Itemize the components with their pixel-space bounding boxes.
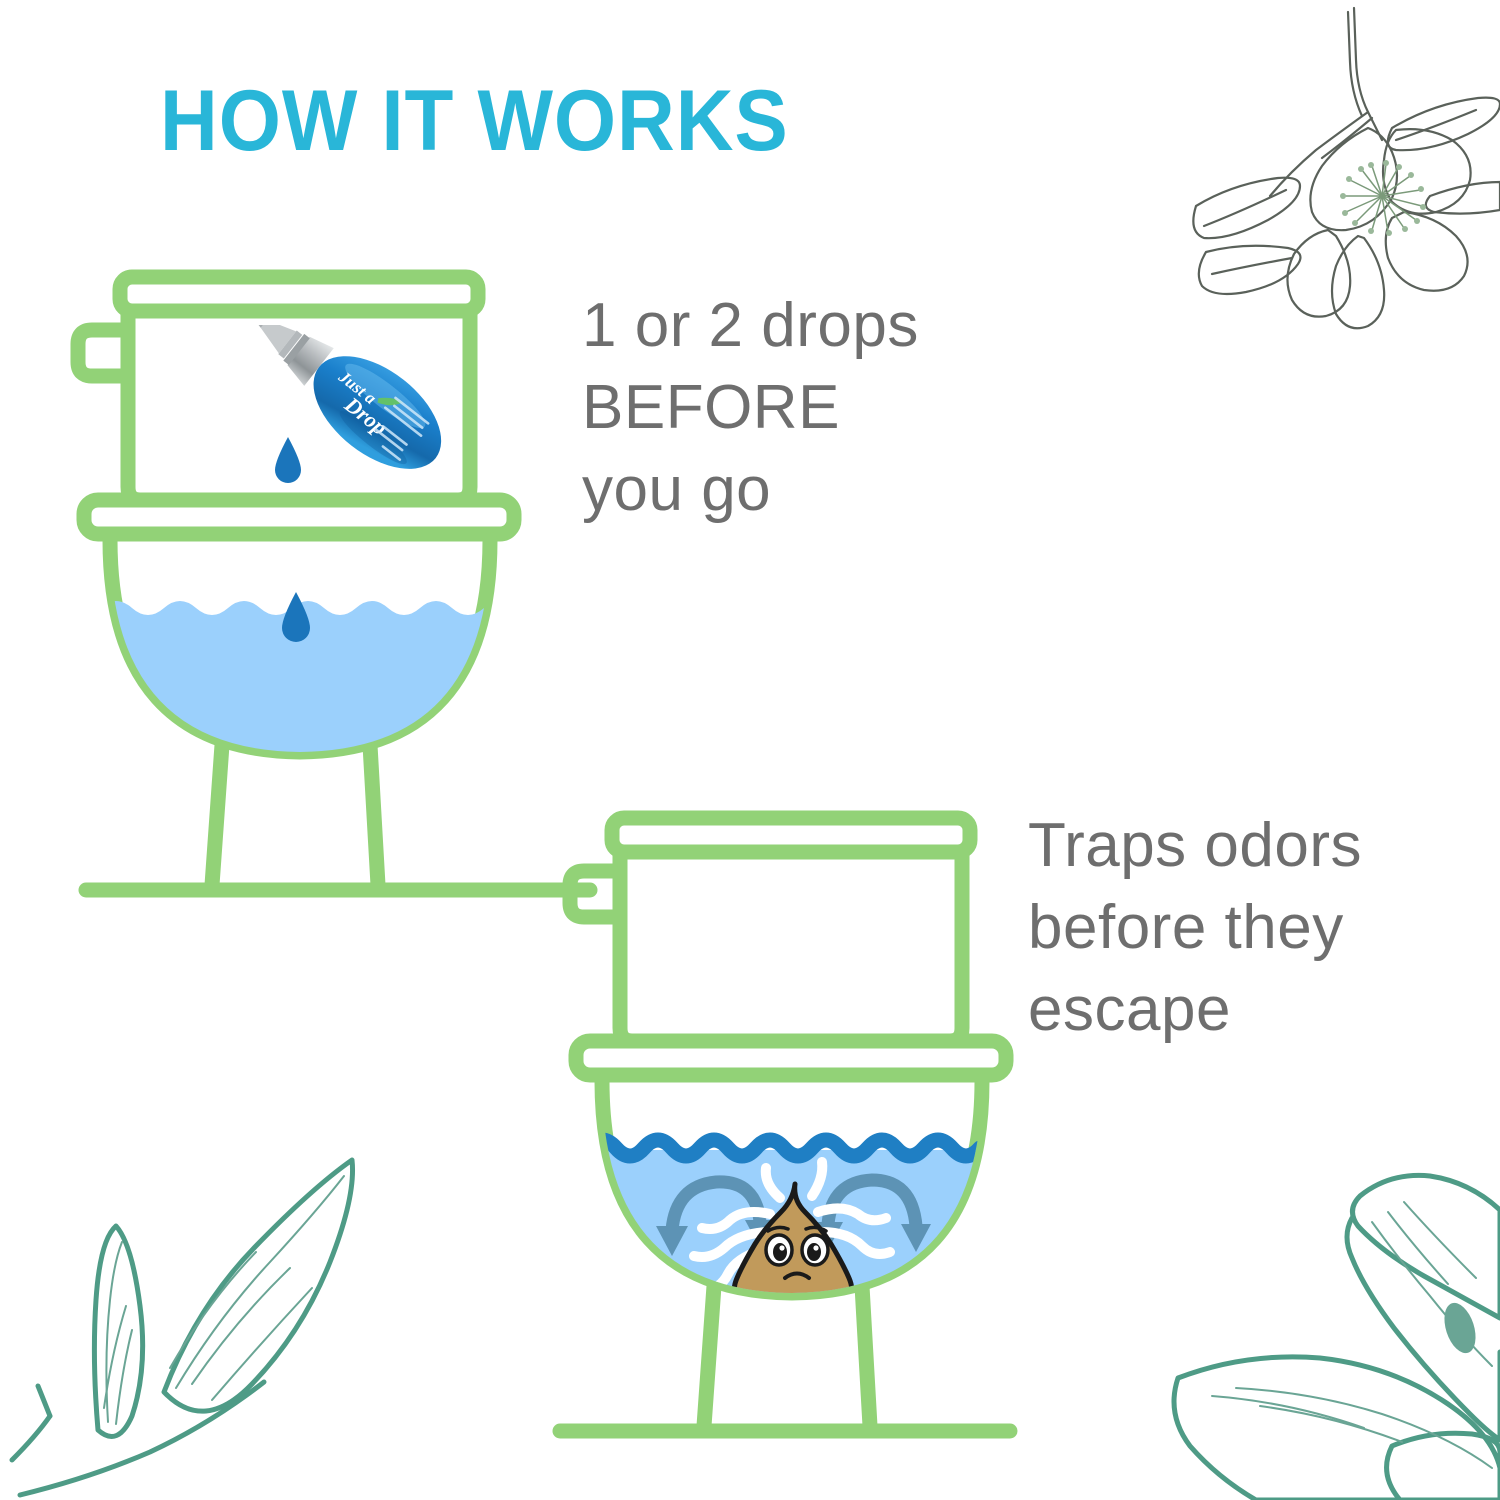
odor-barrier-wave [588,1140,980,1156]
tank-lid-2 [612,818,970,852]
tank-body-2 [620,856,962,1041]
infographic-canvas: HOW IT WORKS [0,0,1500,1500]
toilet-leg-right-2 [862,1286,870,1426]
toilet-leg-left-2 [704,1286,714,1426]
step-2-caption: Traps odors before they escape [1028,805,1362,1050]
toilet-illustration-2 [0,0,1500,1500]
toilet-seat-bar-2 [576,1041,1006,1075]
